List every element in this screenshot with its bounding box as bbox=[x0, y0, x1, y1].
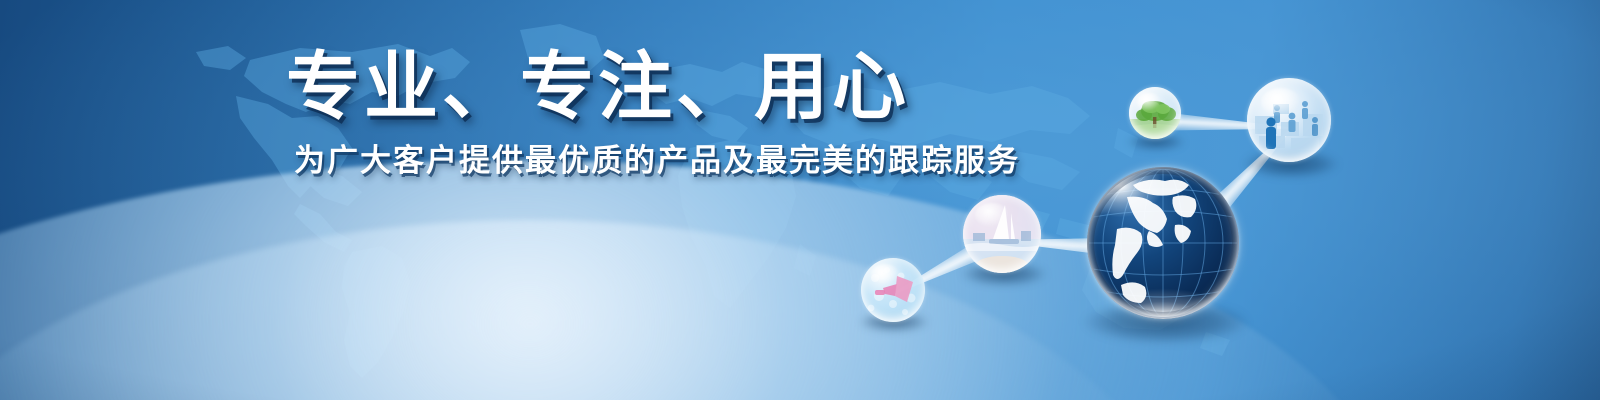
hero-banner: 专业、专注、用心 为广大客户提供最优质的产品及最完美的跟踪服务 bbox=[0, 0, 1600, 400]
nature-bubble bbox=[1129, 87, 1181, 139]
sphere-network-graphic bbox=[0, 0, 1600, 400]
people-bubble bbox=[1247, 78, 1331, 162]
sailboat-harbor-scene bbox=[963, 195, 1041, 273]
map-bubble bbox=[861, 258, 925, 322]
business-people-office-scene bbox=[1247, 78, 1331, 162]
shipping-bubble bbox=[963, 195, 1041, 273]
pink-region-map-scene bbox=[861, 258, 925, 322]
green-tree-nature-scene bbox=[1129, 87, 1181, 139]
globe-sphere bbox=[1087, 167, 1239, 319]
